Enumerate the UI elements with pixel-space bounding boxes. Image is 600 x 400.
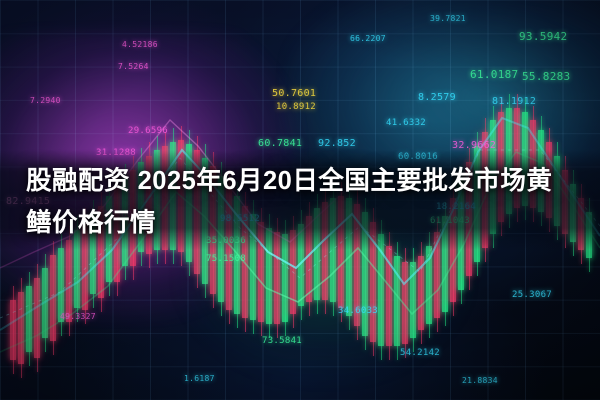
ticker-value: 81.1912: [492, 96, 536, 107]
ticker-value: 73.5841: [262, 336, 302, 346]
ticker-value: 93.5942: [519, 30, 567, 43]
ticker-value: 41.6332: [386, 118, 426, 128]
ticker-value: 60.7841: [258, 138, 302, 149]
ticker-value: 54.2142: [400, 348, 440, 358]
ticker-value: 49.3327: [60, 312, 96, 321]
ticker-value: 4.52186: [122, 40, 158, 49]
ticker-value: 34.6033: [338, 306, 378, 316]
ticker-value: 25.3067: [512, 290, 552, 300]
page-title: 股融配资 2025年6月20日全国主要批发市场黄鳝价格行情: [0, 160, 600, 244]
ticker-value: 7.2940: [30, 96, 61, 105]
ticker-value: 55.8283: [522, 70, 570, 83]
ticker-value: 1.6187: [184, 374, 215, 383]
ticker-value: 7.5264: [118, 62, 149, 71]
ticker-value: 50.7601: [272, 88, 316, 99]
ticker-value: 21.8834: [462, 376, 498, 385]
ticker-value: 61.0187: [470, 68, 518, 81]
ticker-value: 29.6596: [128, 126, 168, 136]
ticker-value: 8.2579: [418, 92, 456, 103]
banner-image: 93.594239.782161.018755.82838.257981.191…: [0, 0, 600, 400]
ticker-value: 66.2207: [350, 34, 386, 43]
ticker-value: 10.8912: [276, 102, 316, 112]
ticker-value: 39.7821: [430, 14, 466, 23]
ticker-value: 92.852: [318, 138, 356, 149]
ticker-value: 75.1508: [206, 254, 246, 264]
